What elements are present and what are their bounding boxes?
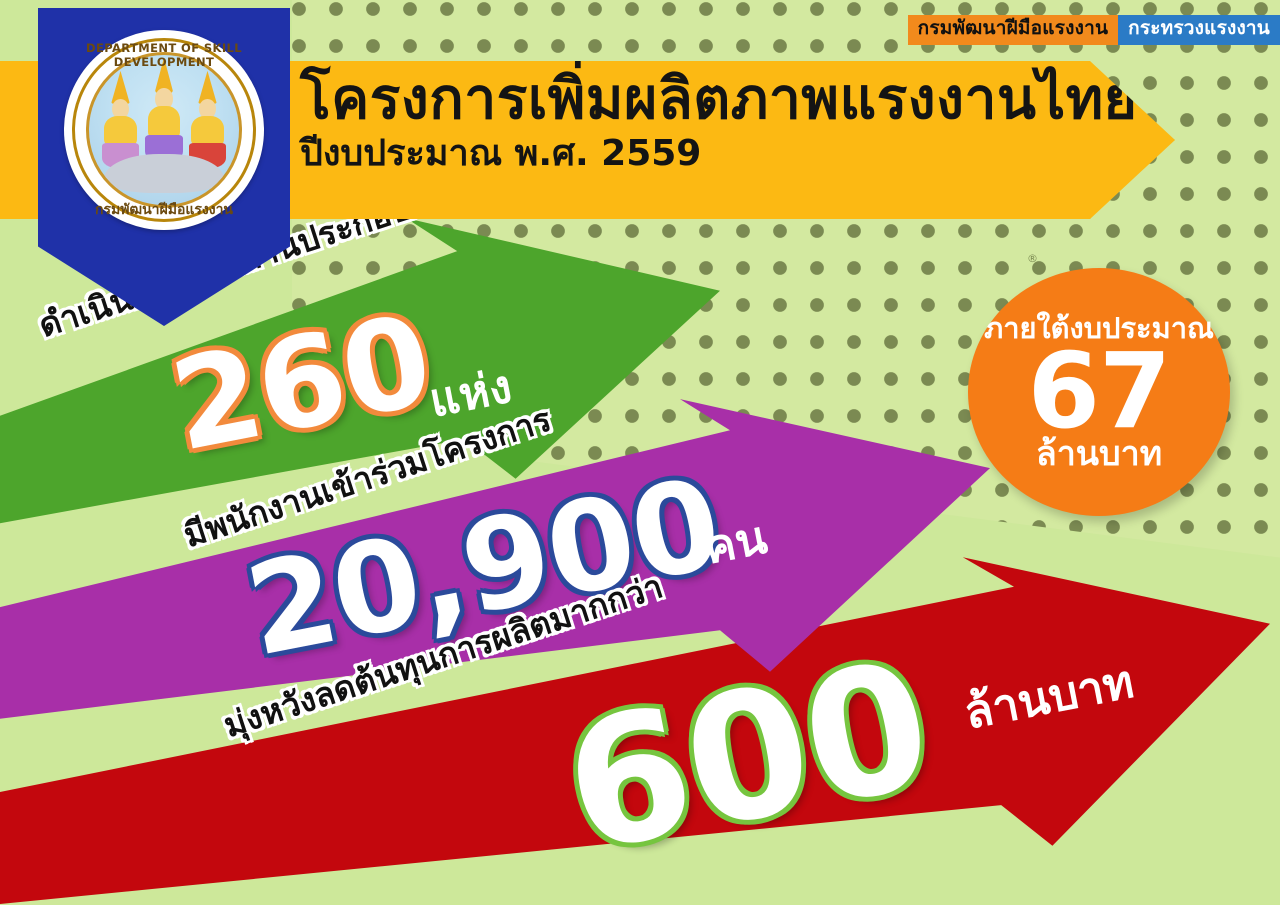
logo-text-english: DEPARTMENT OF SKILL DEVELOPMENT	[64, 41, 264, 69]
cloud-shape	[104, 154, 224, 193]
deity-figure-right	[188, 88, 227, 166]
logo-text-thai: กรมพัฒนาฝีมือแรงงาน	[64, 199, 264, 221]
stat-unit-employees: คน	[701, 514, 771, 571]
department-tag: กรมพัฒนาฝีมือแรงงาน	[908, 15, 1119, 45]
deity-figure-center	[145, 76, 184, 160]
budget-value: 67	[1028, 339, 1171, 443]
deity-figure-left	[101, 88, 140, 166]
budget-badge: ภายใต้งบประมาณ 67 ล้านบาท	[968, 268, 1230, 516]
department-logo: DEPARTMENT OF SKILL DEVELOPMENT กรมพัฒนา…	[64, 30, 264, 230]
page-title: โครงการเพิ่มผลิตภาพแรงงานไทย	[300, 69, 1138, 131]
budget-unit: ล้านบาท	[1036, 437, 1162, 471]
registered-mark: ®	[1027, 252, 1038, 265]
logo-emblem-scene	[86, 52, 242, 208]
page-subtitle: ปีงบประมาณ พ.ศ. 2559	[300, 133, 1138, 174]
agency-tag-row: กรมพัฒนาฝีมือแรงงาน กระทรวงแรงงาน	[908, 15, 1280, 45]
title-banner-text: โครงการเพิ่มผลิตภาพแรงงานไทย ปีงบประมาณ …	[300, 69, 1138, 174]
ministry-tag: กระทรวงแรงงาน	[1118, 15, 1280, 45]
infographic-poster: กรมพัฒนาฝีมือแรงงาน กระทรวงแรงงาน โครงกา…	[0, 0, 1280, 905]
